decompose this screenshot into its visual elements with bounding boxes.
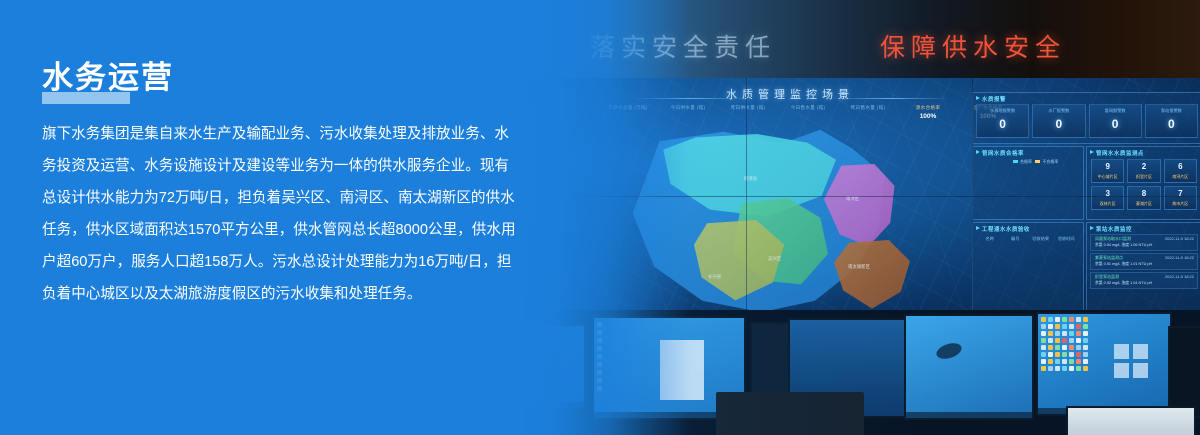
- site-count: 3: [1092, 188, 1123, 200]
- alarm-label: 水源地报警数: [977, 107, 1028, 114]
- site-count: 2: [1128, 161, 1159, 173]
- table-header-row: 名称 编号 验收结果 验收时间: [977, 236, 1079, 242]
- alarm-card: 管网报警数 0: [1089, 104, 1142, 138]
- alarm-value: 0: [1090, 114, 1141, 134]
- operator-monitor-windows: [1036, 312, 1172, 416]
- site-cell: 2 织里片区: [1127, 159, 1160, 183]
- section-body-text: 旗下水务集团是集自来水生产及输配业务、污水收集处理及排放业务、水务投资及运营、水…: [42, 118, 522, 310]
- site-label: 南浔片区: [1165, 173, 1196, 180]
- pump-log-item: 紫菱泵站监测点 2022-11-9 18:22 余氯 0.51 mg/L 浊度 …: [1090, 253, 1198, 270]
- pump-values: 余氯 0.54 mg/L 浊度 1.06 NTU pH: [1095, 243, 1152, 248]
- control-room-photo: 落实安全责任 保障供水安全 水质管理监控场景 年供水总量 (万吨) 今日供水量 …: [520, 0, 1200, 435]
- site-cell: 7 练市片区: [1164, 186, 1197, 210]
- alarm-card: 水源地报警数 0: [976, 104, 1029, 138]
- site-label: 双林片区: [1092, 200, 1123, 207]
- site-count: 6: [1165, 161, 1196, 173]
- title-underline-bar: [42, 92, 130, 104]
- section-body: 旗下水务集团是集自来水生产及输配业务、污水收集处理及排放业务、水务投资及运营、水…: [42, 118, 522, 310]
- pump-log-list: 凤凰泵站取水口监测 2022-11-9 18:22 余氯 0.54 mg/L 浊…: [1090, 234, 1198, 291]
- diver-silhouette: [934, 340, 963, 361]
- water-operations-banner: 落实安全责任 保障供水安全 水质管理监控场景 年供水总量 (万吨) 今日供水量 …: [0, 0, 1200, 435]
- alarm-card-row: 水源地报警数 0 水厂报警数 0 管网报警数 0 泵站报警数: [976, 104, 1198, 138]
- panel-header: 管网水水质监测点: [1087, 147, 1200, 157]
- site-cell: 6 南浔片区: [1164, 159, 1197, 183]
- kpi-label: 昨日售水量 (吨): [838, 104, 898, 112]
- operator-monitor-spreadsheet: [1066, 406, 1196, 435]
- site-label: 中心城片区: [1092, 173, 1123, 180]
- dashboard-column: 水质报警 水源地报警数 0 水厂报警数 0 管网报警数 0: [972, 92, 1200, 318]
- alarm-label: 管网报警数: [1090, 107, 1141, 114]
- page-title: 水务运营: [42, 52, 174, 97]
- keyboard: [716, 392, 864, 435]
- site-label: 织里片区: [1128, 173, 1159, 180]
- pump-log-item: 凤凰泵站取水口监测 2022-11-9 18:22 余氯 0.54 mg/L 浊…: [1090, 234, 1198, 251]
- legend-entry: 不合格率: [1035, 159, 1058, 164]
- alarm-value: 0: [1033, 114, 1084, 134]
- panel-network-pass-rate: 管网水质合格率 合格率 不合格率: [972, 146, 1084, 220]
- panel-header: 水质报警: [973, 93, 1200, 103]
- panel-header: 工程通水水质验收: [973, 223, 1083, 233]
- windows-logo-icon: [1114, 344, 1148, 378]
- table-col-header: 名称: [977, 236, 1003, 242]
- map-region-nantaihu: [834, 240, 910, 310]
- pump-time: 2022-11-9 18:22: [1165, 255, 1194, 260]
- alarm-label: 水厂报警数: [1033, 107, 1084, 114]
- desktop-icon-grid: [1041, 317, 1088, 371]
- panel-water-quality-alarm: 水质报警 水源地报警数 0 水厂报警数 0 管网报警数 0: [972, 92, 1200, 144]
- operator-monitor-right-dark: [1168, 326, 1200, 418]
- pump-site: 紫菱泵站监测点: [1095, 255, 1123, 261]
- pump-values: 余氯 0.52 mg/L 浊度 1.04 NTU pH: [1095, 281, 1152, 286]
- panel-pump-station-monitor: 泵站水质监控 凤凰泵站取水口监测 2022-11-9 18:22 余氯 0.54…: [1086, 222, 1200, 318]
- site-grid: 9 中心城片区 2 织里片区 6 南浔片区 3: [1091, 159, 1197, 210]
- table-col-header: 验收结果: [1028, 236, 1054, 242]
- panel-header: 管网水质合格率: [973, 147, 1083, 157]
- chart-legend: 合格率 不合格率: [1013, 159, 1058, 165]
- alarm-value: 0: [977, 114, 1028, 134]
- site-count: 8: [1128, 188, 1159, 200]
- text-content: 水务运营 旗下水务集团是集自来水生产及输配业务、污水收集处理及排放业务、水务投资…: [0, 0, 560, 435]
- pump-log-item: 织里泵站监测 2022-11-9 18:22 余氯 0.52 mg/L 浊度 1…: [1090, 272, 1198, 289]
- pump-values: 余氯 0.51 mg/L 浊度 1.01 NTU pH: [1095, 262, 1152, 267]
- alarm-label: 泵站报警数: [1146, 107, 1197, 114]
- legend-entry: 合格率: [1013, 159, 1033, 164]
- site-count: 9: [1092, 161, 1123, 173]
- table-col-header: 编号: [1003, 236, 1029, 242]
- table-col-header: 验收时间: [1054, 236, 1080, 242]
- pump-site: 织里泵站监测: [1095, 274, 1119, 280]
- pump-time: 2022-11-9 18:22: [1165, 274, 1194, 279]
- site-cell: 9 中心城片区: [1091, 159, 1124, 183]
- kpi-label: 源水合格率: [898, 104, 958, 112]
- panel-monitoring-sites: 管网水水质监测点 9 中心城片区 2 织里片区 6 南浔片区: [1086, 146, 1200, 220]
- panel-acceptance-table: 工程通水水质验收 名称 编号 验收结果 验收时间: [972, 222, 1084, 318]
- alarm-card: 水厂报警数 0: [1032, 104, 1085, 138]
- map-label: 吴兴区: [768, 256, 781, 262]
- alarm-card: 泵站报警数 0: [1145, 104, 1198, 138]
- site-count: 7: [1165, 188, 1196, 200]
- kpi-label: 昨日供水量 (吨): [718, 104, 778, 112]
- site-cell: 3 双林片区: [1091, 186, 1124, 210]
- operator-monitor-underwater: [904, 314, 1034, 420]
- map-label: 长兴县: [708, 274, 721, 280]
- wall-slogan-right: 保障供水安全: [880, 28, 1066, 64]
- pump-site: 凤凰泵站取水口监测: [1095, 236, 1131, 242]
- map-label: 南太湖新区: [848, 264, 870, 270]
- panel-header: 泵站水质监控: [1087, 223, 1200, 233]
- taskbar: [906, 412, 1032, 418]
- kpi-label: 今日售水量 (吨): [778, 104, 838, 112]
- kpi-value: 100%: [898, 112, 958, 121]
- site-cell: 8 菱湖片区: [1127, 186, 1160, 210]
- pump-time: 2022-11-9 18:22: [1165, 236, 1194, 241]
- alarm-value: 0: [1146, 114, 1197, 134]
- site-label: 菱湖片区: [1128, 200, 1159, 207]
- site-label: 练市片区: [1165, 200, 1196, 207]
